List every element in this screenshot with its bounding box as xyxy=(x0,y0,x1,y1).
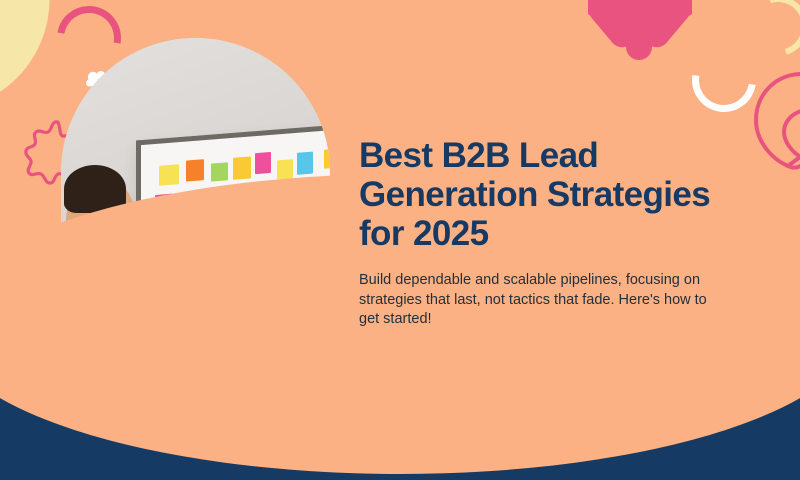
pink-spiral-magnet-icon xyxy=(736,66,800,182)
subheadline-text: Build dependable and scalable pipelines,… xyxy=(359,271,715,330)
pink-splat-star-icon xyxy=(588,0,692,60)
banner-canvas: Best B2B Lead Generation Strategies for … xyxy=(0,0,800,480)
text-column: Best B2B Lead Generation Strategies for … xyxy=(359,136,711,330)
bottom-navy-band xyxy=(0,380,800,480)
page-title: Best B2B Lead Generation Strategies for … xyxy=(359,136,711,253)
cream-half-disc-icon xyxy=(0,0,70,108)
